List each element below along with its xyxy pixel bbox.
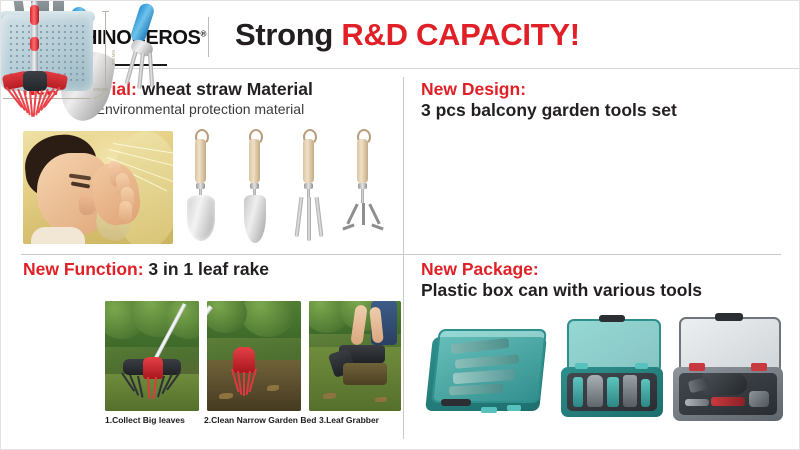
slide-root: RHINOCEROS® Strong R&D CAPACITY! New mat… [0,0,800,450]
wheat-smelling-photo [23,131,173,244]
new-design-text: 3 pcs balcony garden tools set [421,100,787,121]
function-caption-2: 2.Clean Narrow Garden Bed [204,415,316,425]
vertical-divider [403,77,404,439]
teal-tool-case-open [561,319,663,419]
horizontal-divider [21,254,781,255]
dim-height-line [105,11,106,93]
quadrant-new-design: New Design: 3 pcs balcony garden tools s… [421,79,787,251]
slide-header: RHINOCEROS® Strong R&D CAPACITY! [1,1,800,69]
leaf-grabber-photo [309,301,401,411]
teal-tool-case-flat [425,323,547,417]
function-caption-3: 3.Leaf Grabber [319,415,379,425]
function-caption-1: 1.Collect Big leaves [105,415,185,425]
rake-hub [23,71,47,91]
title-strong: Strong [235,17,341,52]
wheat-straw-garden-tools [183,129,399,247]
trademark-symbol: ® [201,29,207,38]
dim-height-label: 240MM [111,50,116,65]
dim-depth-label: 105MM [93,87,108,92]
rake-narrow-bed-photo [207,301,301,411]
new-function-heading: New Function: 3 in 1 leaf rake [23,259,399,280]
new-design-label: New Design: [421,79,787,100]
header-divider [208,17,209,57]
new-material-text: wheat straw Material [137,79,313,99]
title-rd-capacity: R&D CAPACITY! [341,17,579,52]
rake-grip [30,5,39,25]
new-function-text: 3 in 1 leaf rake [144,259,270,279]
page-title: Strong R&D CAPACITY! [235,15,580,55]
new-package-text: Plastic box can with various tools [421,280,787,301]
rake-collect-leaves-photo [105,301,199,411]
new-package-label: New Package: [421,259,787,280]
shoulder-shape [31,227,85,244]
new-function-label: New Function: [23,259,144,279]
gray-tool-case-open [673,317,783,421]
